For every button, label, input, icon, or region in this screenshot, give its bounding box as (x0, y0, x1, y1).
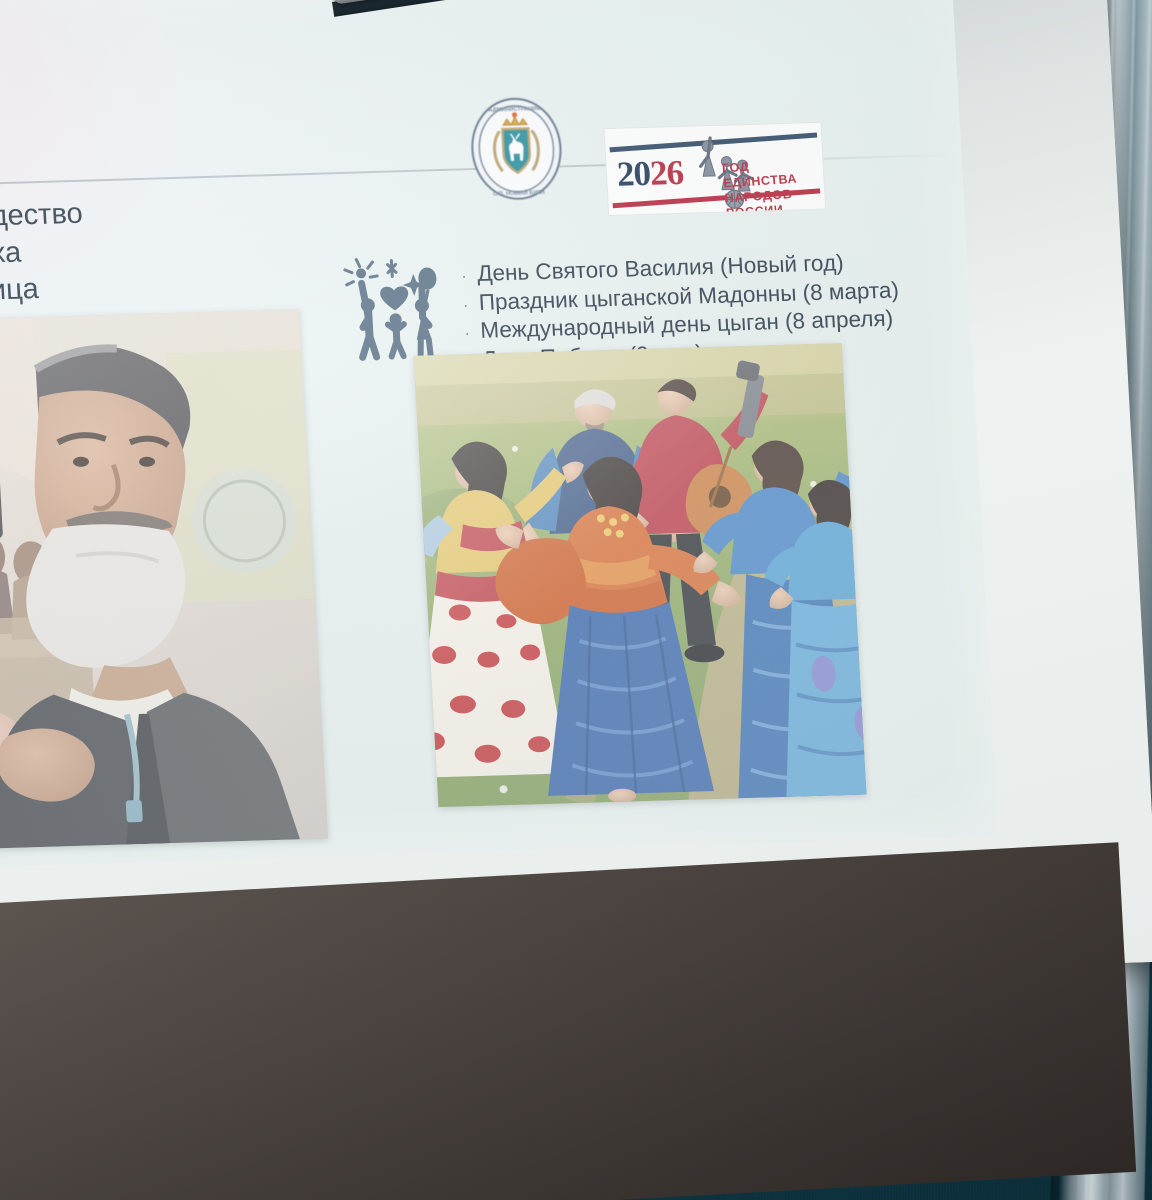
christian-holidays-list: · Рождество · Пасха · Троица (0, 196, 88, 312)
bullet-dot: · (464, 317, 481, 342)
priest-handshake-photo (0, 309, 328, 855)
roller-shadow (332, 0, 1152, 17)
list-item-label: Пасха (0, 235, 22, 274)
bullet-dot: · (460, 260, 477, 285)
logo-year: 2026 (616, 153, 684, 195)
list-item: · Троица (0, 270, 88, 312)
projected-slide-scene: дники (0, 0, 1152, 1200)
slide-canvas: дники (0, 0, 999, 872)
roller-bar (332, 0, 1152, 5)
list-item: · Пасха (0, 233, 86, 275)
logo-year-first: 20 (616, 154, 651, 194)
list-item: · Рождество (0, 196, 84, 238)
list-item-label: Троица (0, 271, 40, 311)
screen-roller-assembly (332, 0, 1092, 116)
logo-caption: ГОД ЕДИНСТВА НАРОДОВ РОССИИ (721, 155, 826, 216)
year-of-unity-logo: 2026 ГОД ЕДИНСТВА НАРОДОВ РОССИИ (603, 122, 826, 216)
celebration-family-icon (340, 255, 450, 362)
roma-dance-photo (414, 343, 867, 807)
logo-year-second: 26 (649, 153, 684, 193)
lower-wall-panel (0, 842, 1136, 1200)
list-item-label: Рождество (0, 196, 84, 237)
bullet-dot: · (462, 288, 479, 313)
